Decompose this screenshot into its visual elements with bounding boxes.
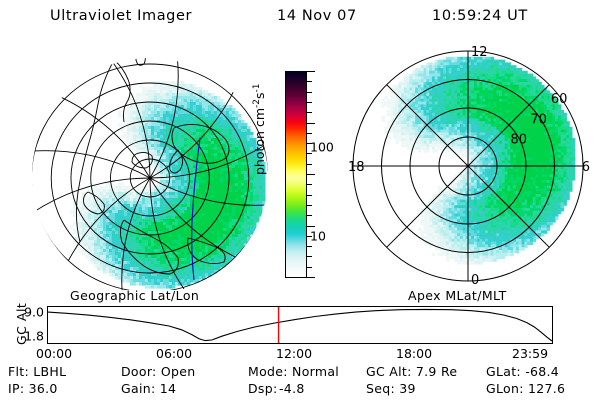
colorbar-tick: [307, 195, 312, 196]
status-dsp-value: -4.8: [279, 381, 305, 396]
colorbar-unit-photon: photon cm: [252, 108, 267, 175]
apex-plot-svg: 121860607080: [340, 40, 596, 290]
colorbar-tick: [307, 256, 312, 257]
colorbar-tick-label: 10: [310, 228, 326, 243]
status-row-1: Flt: LBHL Door: Open Mode: Normal GC Alt…: [8, 364, 598, 381]
status-mode: Mode: Normal: [248, 364, 339, 379]
intensity-colorbar[interactable]: [285, 71, 307, 278]
geographic-image-panel[interactable]: [28, 42, 268, 290]
colorbar-tick-label: 100: [310, 139, 334, 154]
status-seq: Seq: 39: [366, 381, 416, 396]
colorbar-axis-title: photon cm-2s-1: [252, 84, 267, 175]
colorbar-unit-exp1: -2: [252, 99, 262, 108]
colorbar-gradient: [285, 71, 307, 278]
colorbar-tick: [307, 133, 312, 134]
geographic-plot-svg: [28, 42, 268, 290]
apex-mlat-mlt-panel[interactable]: 121860607080: [340, 40, 596, 290]
uvi-display: Ultraviolet Imager 14 Nov 07 10:59:24 UT…: [0, 0, 600, 400]
colorbar-tick: [307, 267, 312, 268]
observation-date: 14 Nov 07: [277, 8, 357, 24]
orbit-xtick-label: 23:59: [512, 346, 548, 361]
orbit-xtick-label: 06:00: [156, 346, 192, 361]
observation-time: 10:59:24 UT: [432, 8, 528, 24]
colorbar-tick: [307, 164, 312, 165]
orbit-altitude-curve: [48, 309, 552, 341]
colorbar-tick: [307, 226, 315, 227]
orbit-ytick-high: 9.0: [24, 305, 44, 320]
apex-polar-grid: [353, 51, 583, 281]
colorbar-unit-s: s: [252, 93, 267, 100]
status-block: Flt: LBHL Door: Open Mode: Normal GC Alt…: [8, 364, 598, 398]
colorbar-tick: [307, 277, 315, 278]
orbit-ytick-low: 1.8: [24, 329, 44, 344]
status-door: Door: Open: [121, 364, 195, 379]
colorbar-tick: [307, 92, 312, 93]
instrument-title: Ultraviolet Imager: [50, 8, 192, 24]
apex-panel-caption: Apex MLat/MLT: [408, 288, 507, 303]
colorbar-tick: [307, 246, 312, 247]
orbit-xtick-label: 18:00: [396, 346, 432, 361]
status-glat: GLat: -68.4: [486, 364, 559, 379]
status-filter: Flt: LBHL: [8, 364, 66, 379]
colorbar-ticks: [307, 71, 315, 278]
colorbar-tick: [307, 123, 315, 124]
orbit-xtick-label: 12:00: [276, 346, 312, 361]
orbit-plot-svg: [47, 306, 553, 344]
status-dsp-label: Dsp:: [248, 381, 277, 396]
colorbar-tick: [307, 174, 315, 175]
aurora-emission-geographic: [70, 81, 266, 289]
orbit-xtick-label: 00:00: [36, 346, 72, 361]
geographic-panel-caption: Geographic Lat/Lon: [70, 288, 199, 303]
colorbar-tick: [307, 215, 312, 216]
colorbar-tick: [307, 112, 312, 113]
colorbar-tick: [307, 71, 315, 72]
colorbar-tick: [307, 205, 312, 206]
status-gain: Gain: 14: [121, 381, 176, 396]
colorbar-tick: [307, 102, 312, 103]
status-row-2: IP: 36.0 Gain: 14 Dsp: -4.8 Seq: 39 GLon…: [8, 381, 598, 398]
status-ip: IP: 36.0: [8, 381, 58, 396]
colorbar-unit-exp2: -1: [252, 84, 262, 93]
colorbar-tick: [307, 184, 312, 185]
status-gc-alt: GC Alt: 7.9 Re: [366, 364, 457, 379]
colorbar-tick: [307, 81, 312, 82]
status-glon: GLon: 127.6: [486, 381, 565, 396]
orbit-altitude-plot[interactable]: [47, 306, 553, 344]
